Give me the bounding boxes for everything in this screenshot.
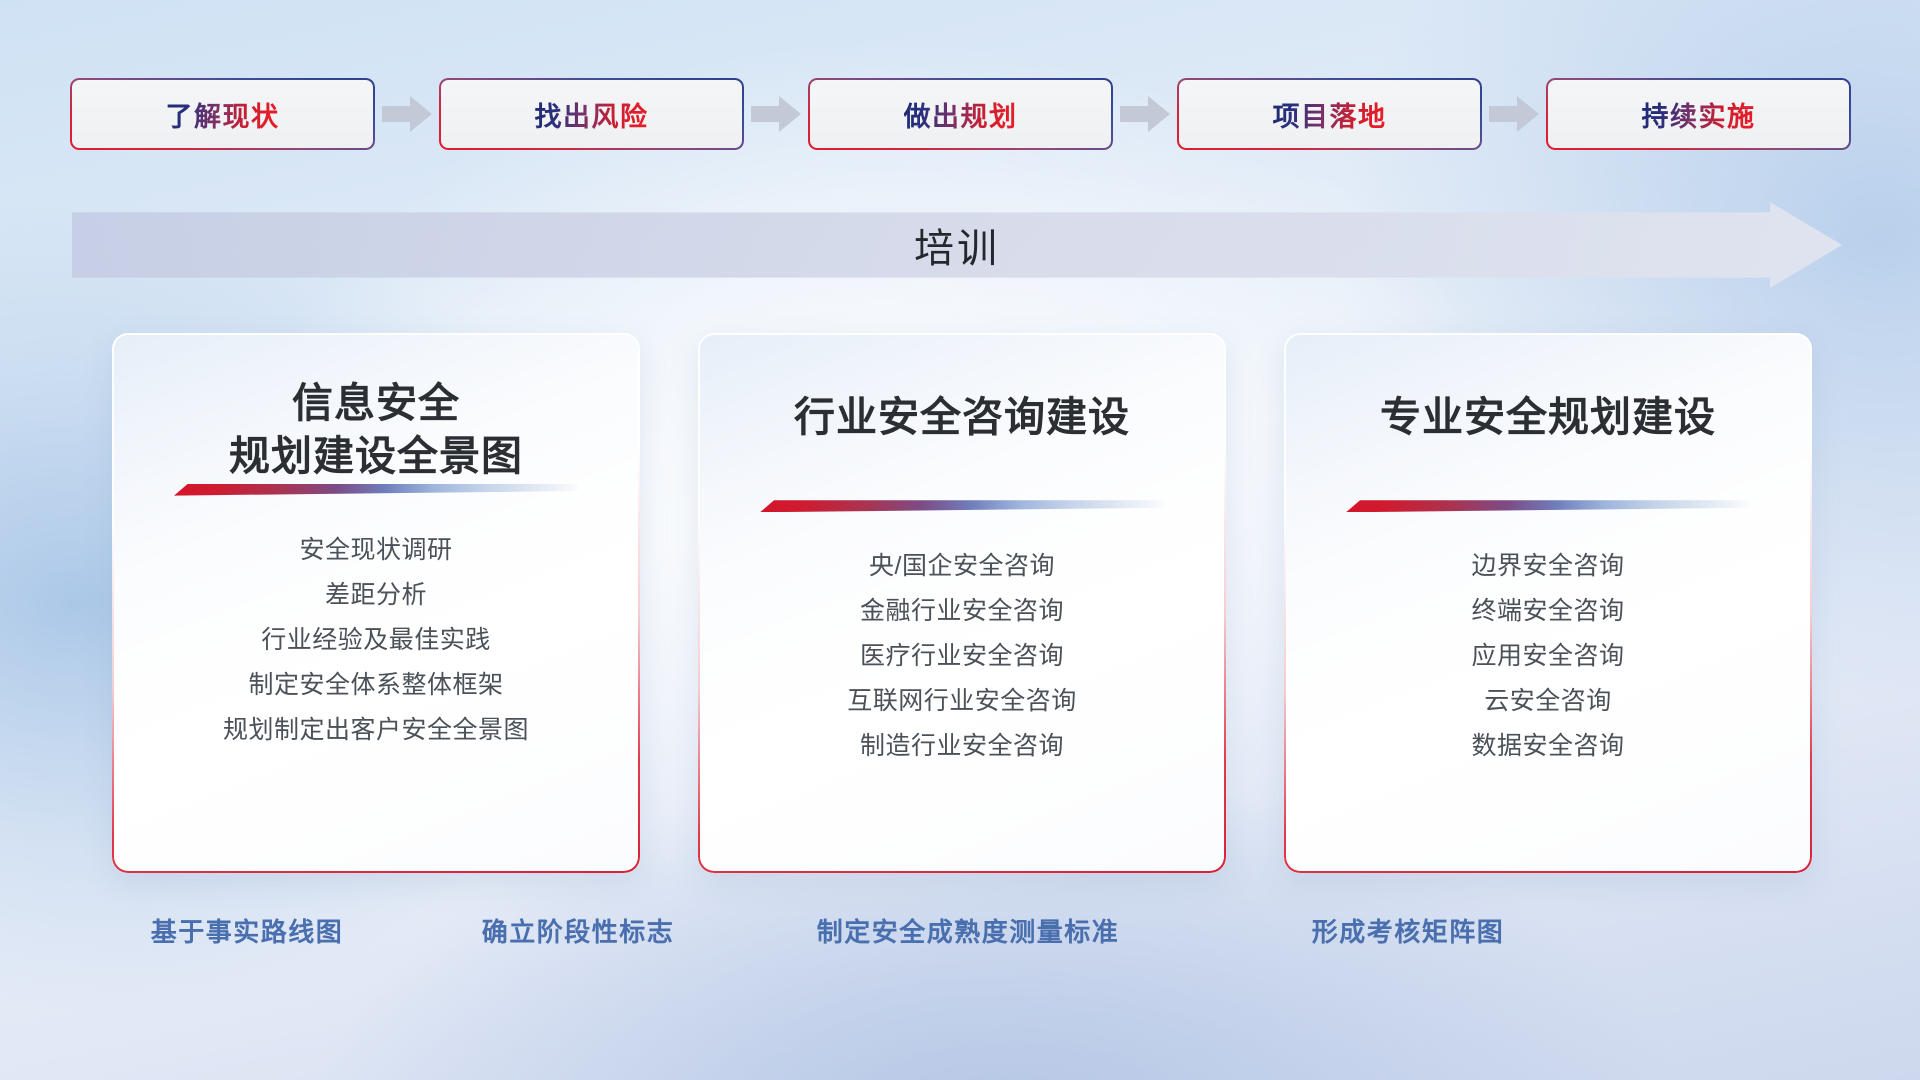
bottom-label-1: 基于事实路线图 — [151, 912, 344, 949]
card-title: 行业安全咨询建设 — [698, 391, 1226, 444]
arrow-right-icon — [1113, 93, 1177, 135]
list-item: 互联网行业安全咨询 — [698, 679, 1226, 724]
card-divider — [760, 500, 1164, 512]
process-step-label: 项目落地 — [1273, 95, 1387, 134]
process-step-3[interactable]: 做出规划 — [808, 78, 1113, 150]
bottom-label-3: 制定安全成熟度测量标准 — [817, 912, 1120, 949]
process-step-4[interactable]: 项目落地 — [1177, 78, 1482, 150]
process-steps-row: 了解现状 找出风险 做出规划 项目落地 持续实施 — [70, 78, 1850, 150]
list-item: 金融行业安全咨询 — [698, 589, 1226, 634]
bottom-label-4: 形成考核矩阵图 — [1312, 912, 1505, 949]
card-item-list: 边界安全咨询 终端安全咨询 应用安全咨询 云安全咨询 数据安全咨询 — [1284, 544, 1812, 769]
process-step-5[interactable]: 持续实施 — [1546, 78, 1851, 150]
process-step-label: 找出风险 — [535, 95, 649, 134]
list-item: 安全现状调研 — [112, 528, 640, 573]
list-item: 医疗行业安全咨询 — [698, 634, 1226, 679]
card-divider — [1346, 500, 1750, 512]
process-step-label: 做出规划 — [904, 95, 1018, 134]
card-title-line: 信息安全 — [134, 377, 618, 430]
card-2[interactable]: 行业安全咨询建设 央/国企安全咨询 金融行业安全咨询 医疗行业安全咨询 互联网行… — [698, 333, 1226, 873]
card-title-line: 规划建设全景图 — [134, 430, 618, 483]
bottom-label-2: 确立阶段性标志 — [482, 912, 675, 949]
list-item: 规划制定出客户安全全景图 — [112, 708, 640, 753]
card-3[interactable]: 专业安全规划建设 边界安全咨询 终端安全咨询 应用安全咨询 云安全咨询 数据安全… — [1284, 333, 1812, 873]
card-title: 信息安全 规划建设全景图 — [112, 377, 640, 484]
process-step-1[interactable]: 了解现状 — [70, 78, 375, 150]
card-title-line: 行业安全咨询建设 — [720, 391, 1204, 444]
cards-row: 信息安全 规划建设全景图 安全现状调研 差距分析 行业经验及最佳实践 制定安全体… — [112, 333, 1812, 873]
card-item-list: 央/国企安全咨询 金融行业安全咨询 医疗行业安全咨询 互联网行业安全咨询 制造行… — [698, 544, 1226, 769]
list-item: 数据安全咨询 — [1284, 724, 1812, 769]
process-step-label: 了解现状 — [166, 95, 280, 134]
training-banner: 培训 — [72, 202, 1842, 288]
arrow-right-icon — [375, 93, 439, 135]
card-item-list: 安全现状调研 差距分析 行业经验及最佳实践 制定安全体系整体框架 规划制定出客户… — [112, 528, 640, 753]
list-item: 制定安全体系整体框架 — [112, 663, 640, 708]
banner-label: 培训 — [72, 216, 1842, 274]
card-divider — [174, 484, 578, 496]
list-item: 央/国企安全咨询 — [698, 544, 1226, 589]
list-item: 终端安全咨询 — [1284, 589, 1812, 634]
card-title: 专业安全规划建设 — [1284, 391, 1812, 444]
list-item: 差距分析 — [112, 573, 640, 618]
process-step-label: 持续实施 — [1642, 95, 1756, 134]
list-item: 行业经验及最佳实践 — [112, 618, 640, 663]
card-1[interactable]: 信息安全 规划建设全景图 安全现状调研 差距分析 行业经验及最佳实践 制定安全体… — [112, 333, 640, 873]
list-item: 应用安全咨询 — [1284, 634, 1812, 679]
arrow-right-icon — [744, 93, 808, 135]
process-step-2[interactable]: 找出风险 — [439, 78, 744, 150]
list-item: 云安全咨询 — [1284, 679, 1812, 724]
arrow-right-icon — [1482, 93, 1546, 135]
card-title-line: 专业安全规划建设 — [1306, 391, 1790, 444]
bottom-labels-row: 基于事实路线图 确立阶段性标志 制定安全成熟度测量标准 形成考核矩阵图 — [0, 912, 1920, 960]
list-item: 边界安全咨询 — [1284, 544, 1812, 589]
list-item: 制造行业安全咨询 — [698, 724, 1226, 769]
